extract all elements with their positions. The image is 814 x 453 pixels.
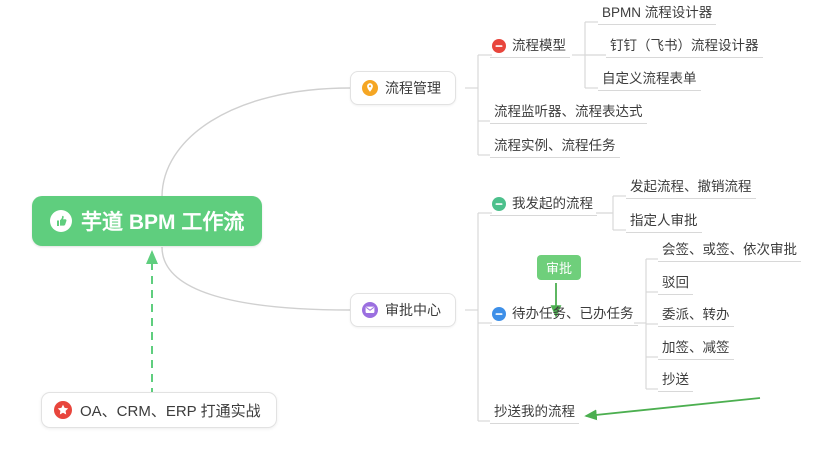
minus-circle-icon: [492, 197, 506, 211]
annotation-tag-label: 审批: [546, 258, 572, 277]
node-label-liucheng-moxing: 流程模型: [512, 34, 566, 54]
node-liucheng-moxing[interactable]: 流程模型: [490, 36, 570, 58]
node-custom-form[interactable]: 自定义流程表单: [598, 69, 701, 91]
branch-label-liucheng-guanli: 流程管理: [385, 78, 441, 98]
node-start-cancel-process[interactable]: 发起流程、撤销流程: [626, 177, 756, 199]
node-countersign[interactable]: 会签、或签、依次审批: [658, 240, 801, 262]
node-my-initiated-process[interactable]: 我发起的流程: [490, 194, 597, 216]
node-label-start-cancel-process: 发起流程、撤销流程: [630, 175, 752, 195]
node-label-add-remove-sign: 加签、减签: [662, 336, 730, 356]
node-label-reject: 驳回: [662, 271, 689, 291]
node-label-custom-form: 自定义流程表单: [602, 67, 697, 87]
node-assign-approver[interactable]: 指定人审批: [626, 211, 702, 233]
node-reject[interactable]: 驳回: [658, 273, 693, 295]
root-label: 芋道 BPM 工作流: [81, 206, 244, 236]
node-cc-to-me-process[interactable]: 抄送我的流程: [490, 402, 579, 424]
root-node[interactable]: 芋道 BPM 工作流: [32, 196, 262, 246]
node-todo-done-tasks[interactable]: 待办任务、已办任务: [490, 304, 638, 326]
annotation-card-label: OA、CRM、ERP 打通实战: [80, 400, 261, 421]
node-label-assign-approver: 指定人审批: [630, 209, 698, 229]
message-icon: [362, 302, 378, 318]
node-label-instance-task: 流程实例、流程任务: [494, 134, 616, 154]
node-label-listener-expression: 流程监听器、流程表达式: [494, 100, 643, 120]
annotation-tag-shenpi[interactable]: 审批: [537, 255, 581, 280]
branch-node-liucheng-guanli[interactable]: 流程管理: [350, 71, 456, 105]
node-label-cc-to-me-process: 抄送我的流程: [494, 400, 575, 420]
edge-root-to-liucheng: [162, 88, 350, 197]
edge-root-to-shenpi: [162, 247, 350, 310]
star-circle-icon: [54, 401, 72, 419]
node-label-cc: 抄送: [662, 368, 689, 388]
mindmap-canvas: 芋道 BPM 工作流 流程管理 流程模型 BPMN 流程设计器 钉钉（飞书）流程…: [0, 0, 814, 453]
annotation-arrow-chaosong: [586, 398, 760, 416]
annotation-card-oa[interactable]: OA、CRM、ERP 打通实战: [41, 392, 277, 428]
node-cc[interactable]: 抄送: [658, 370, 693, 392]
node-label-todo-done-tasks: 待办任务、已办任务: [512, 302, 634, 322]
node-dingding-designer[interactable]: 钉钉（飞书）流程设计器: [606, 36, 763, 58]
node-bpmn-designer[interactable]: BPMN 流程设计器: [598, 3, 716, 25]
node-label-delegate-transfer: 委派、转办: [662, 303, 730, 323]
branch-label-shenpi-zhongxin: 审批中心: [385, 300, 441, 320]
node-listener-expression[interactable]: 流程监听器、流程表达式: [490, 102, 647, 124]
node-label-bpmn-designer: BPMN 流程设计器: [602, 1, 712, 21]
branch-node-shenpi-zhongxin[interactable]: 审批中心: [350, 293, 456, 327]
node-delegate-transfer[interactable]: 委派、转办: [658, 305, 734, 327]
node-label-countersign: 会签、或签、依次审批: [662, 238, 797, 258]
node-label-dingding-designer: 钉钉（飞书）流程设计器: [610, 34, 759, 54]
node-instance-task[interactable]: 流程实例、流程任务: [490, 136, 620, 158]
minus-circle-icon: [492, 39, 506, 53]
node-add-remove-sign[interactable]: 加签、减签: [658, 338, 734, 360]
minus-circle-icon: [492, 307, 506, 321]
node-label-my-initiated-process: 我发起的流程: [512, 192, 593, 212]
location-pin-icon: [362, 80, 378, 96]
thumbs-up-icon: [50, 210, 72, 232]
